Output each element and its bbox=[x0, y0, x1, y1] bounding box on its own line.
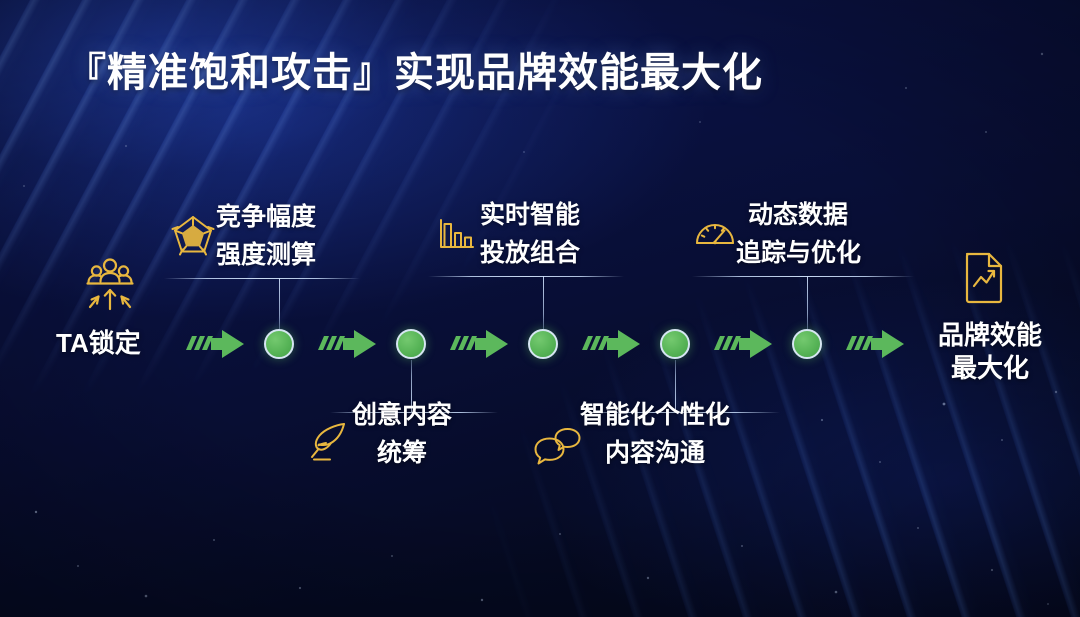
callout-2-line2: 统筹 bbox=[377, 438, 427, 469]
bar-chart-icon bbox=[434, 212, 478, 256]
flow-arrow-1 bbox=[186, 322, 248, 366]
page-title: 『精准饱和攻击』实现品牌效能最大化 bbox=[66, 40, 763, 98]
speedometer-gauge-icon bbox=[692, 214, 738, 260]
pentagon-radar-chart-icon bbox=[170, 212, 216, 258]
callout-2-line1: 创意内容 bbox=[352, 400, 452, 431]
flow-node-5[interactable] bbox=[792, 329, 822, 359]
feather-quill-pen-icon bbox=[306, 418, 352, 464]
callout-3-connector bbox=[543, 276, 544, 330]
flow-node-3[interactable] bbox=[528, 329, 558, 359]
flow-end-label-line1: 品牌效能 bbox=[938, 320, 1042, 352]
callout-5-line1: 动态数据 bbox=[748, 200, 848, 231]
callout-4-line1: 智能化个性化 bbox=[580, 400, 730, 431]
flow-node-2[interactable] bbox=[396, 329, 426, 359]
callout-5-connector bbox=[807, 276, 808, 330]
speech-bubbles-icon bbox=[534, 424, 582, 468]
callout-1-line2: 强度测算 bbox=[216, 240, 316, 271]
callout-3-line2: 投放组合 bbox=[480, 238, 580, 269]
slide-canvas: 『精准饱和攻击』实现品牌效能最大化 TA锁定 bbox=[0, 0, 1080, 617]
callout-1-line1: 竞争幅度 bbox=[216, 202, 316, 233]
callout-5-underline bbox=[692, 276, 914, 277]
callout-1-connector bbox=[279, 278, 280, 330]
flow-arrow-6 bbox=[846, 322, 908, 366]
callout-5-line2: 追踪与优化 bbox=[736, 238, 861, 269]
flow-arrow-2 bbox=[318, 322, 380, 366]
flow-arrow-4 bbox=[582, 322, 644, 366]
flow-arrow-3 bbox=[450, 322, 512, 366]
target-audience-people-icon bbox=[78, 252, 142, 316]
flow-node-4[interactable] bbox=[660, 329, 690, 359]
flow-node-1[interactable] bbox=[264, 329, 294, 359]
callout-4-line2: 内容沟通 bbox=[605, 438, 705, 469]
flow-end-label-line2: 最大化 bbox=[951, 353, 1029, 385]
report-document-chart-icon bbox=[958, 250, 1008, 306]
callout-1-underline bbox=[164, 278, 360, 279]
callout-3-underline bbox=[428, 276, 624, 277]
flow-start-label: TA锁定 bbox=[56, 328, 141, 360]
callout-3-line1: 实时智能 bbox=[480, 200, 580, 231]
flow-arrow-5 bbox=[714, 322, 776, 366]
